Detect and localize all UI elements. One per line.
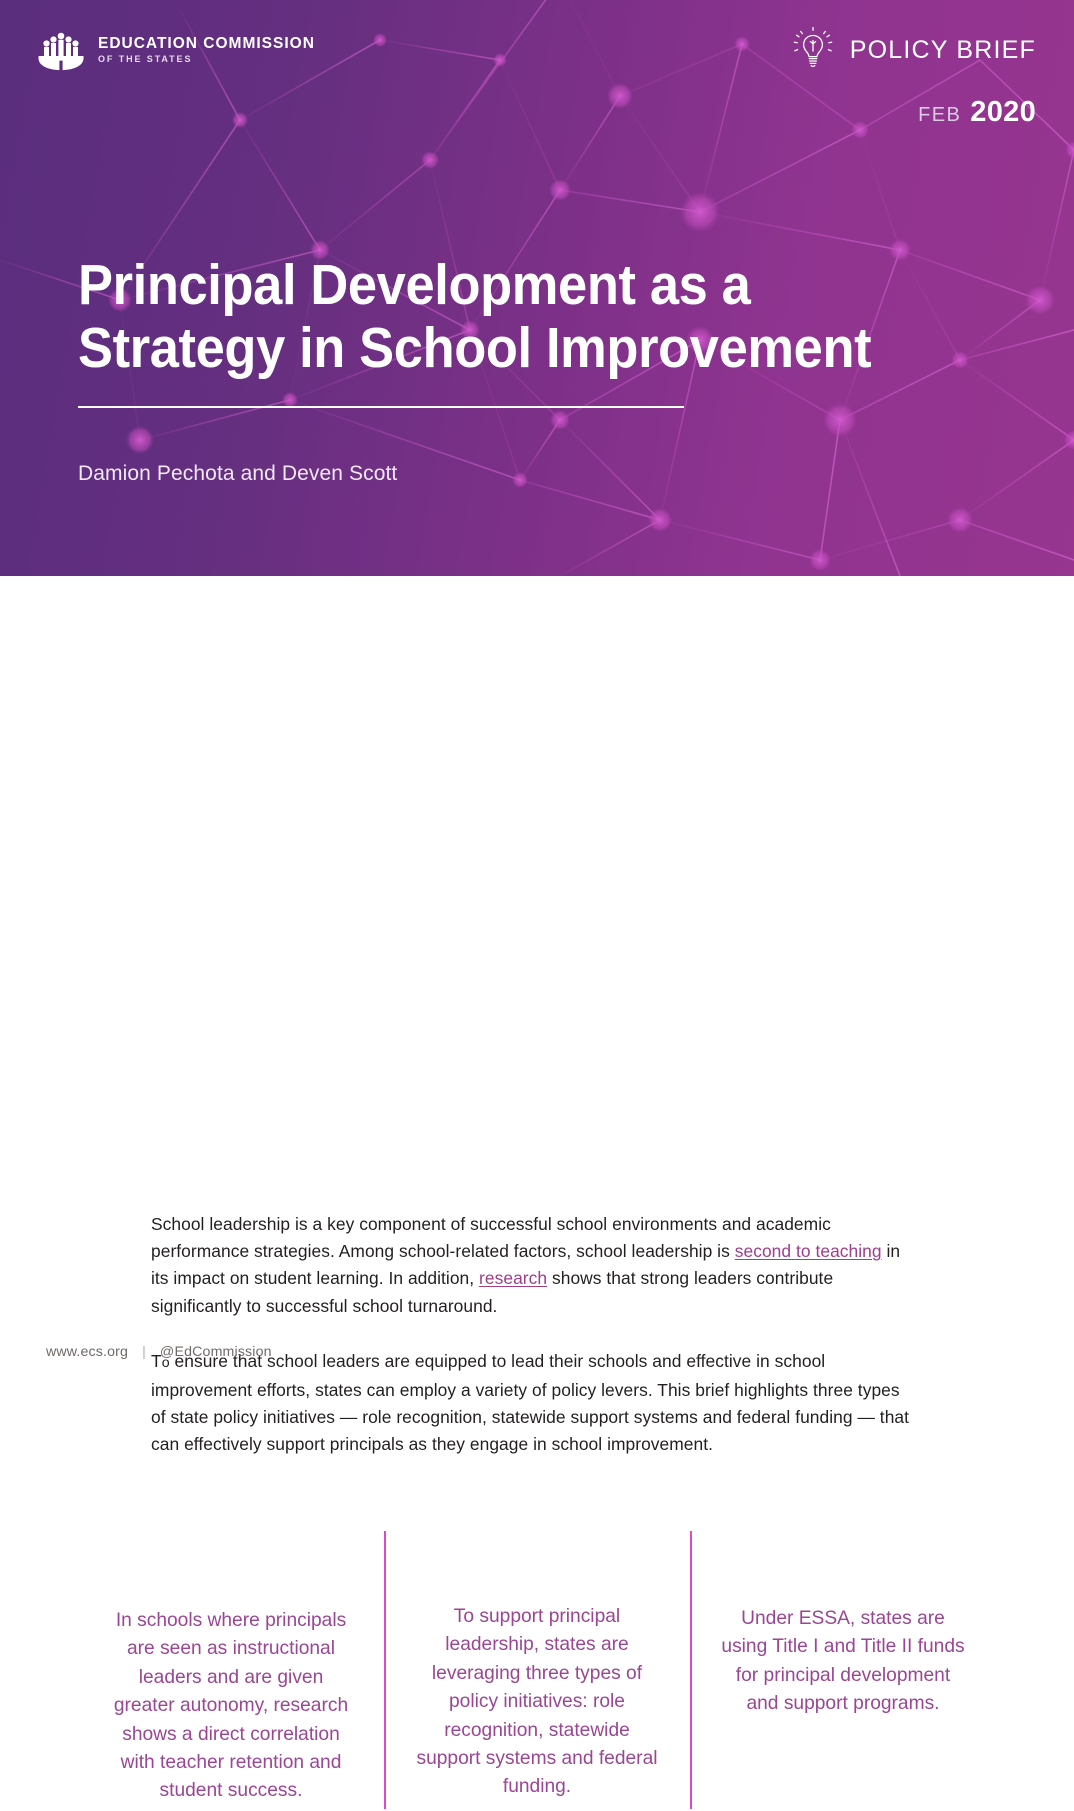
publication-date: FEB 2020: [918, 98, 1036, 127]
callout-row: In schools where principals are seen as …: [78, 1531, 996, 1811]
logo-subtitle: OF THE STATES: [98, 55, 315, 64]
ecs-people-book-logo-icon: [38, 28, 84, 72]
authors-byline: Damion Pechota and Deven Scott: [78, 462, 397, 486]
callout-3-text: Under ESSA, states are using Title I and…: [719, 1531, 967, 1811]
footer-separator: |: [142, 1344, 146, 1360]
callout-2-text: To support principal leadership, states …: [413, 1531, 661, 1811]
policy-brief-badge: POLICY BRIEF: [790, 27, 1036, 73]
lightbulb-icon: [790, 27, 836, 73]
callout-3: Under ESSA, states are using Title I and…: [690, 1531, 996, 1811]
ecs-logo: EDUCATION COMMISSION OF THE STATES: [38, 28, 315, 72]
paragraph-2: To ensure that school leaders are equipp…: [151, 1348, 911, 1459]
callout-1-text: In schools where principals are seen as …: [107, 1531, 355, 1811]
intro-paragraphs: School leadership is a key component of …: [151, 1211, 911, 1459]
callout-2: To support principal leadership, states …: [384, 1531, 690, 1811]
policy-brief-label: POLICY BRIEF: [850, 38, 1036, 63]
document-header-banner: EDUCATION COMMISSION OF THE STATES: [0, 0, 1074, 576]
page-title: Principal Development as a Strategy in S…: [78, 254, 915, 380]
title-divider-rule: [78, 406, 684, 408]
logo-title: EDUCATION COMMISSION: [98, 36, 315, 52]
callout-1: In schools where principals are seen as …: [78, 1531, 384, 1811]
footer-website-link[interactable]: www.ecs.org: [46, 1344, 128, 1360]
link-second-to-teaching[interactable]: second to teaching: [735, 1241, 882, 1261]
footer-social-handle[interactable]: @EdCommission: [160, 1344, 272, 1360]
link-research[interactable]: research: [479, 1268, 547, 1288]
date-month: FEB: [918, 105, 961, 125]
paragraph-1: School leadership is a key component of …: [151, 1211, 911, 1320]
page-footer: www.ecs.org | @EdCommission: [46, 1344, 272, 1360]
paragraph-1-part-1: School leadership is a key component of …: [151, 1214, 831, 1261]
date-year: 2020: [970, 98, 1036, 127]
paragraph-2-text: ensure that school leaders are equipped …: [151, 1351, 909, 1455]
